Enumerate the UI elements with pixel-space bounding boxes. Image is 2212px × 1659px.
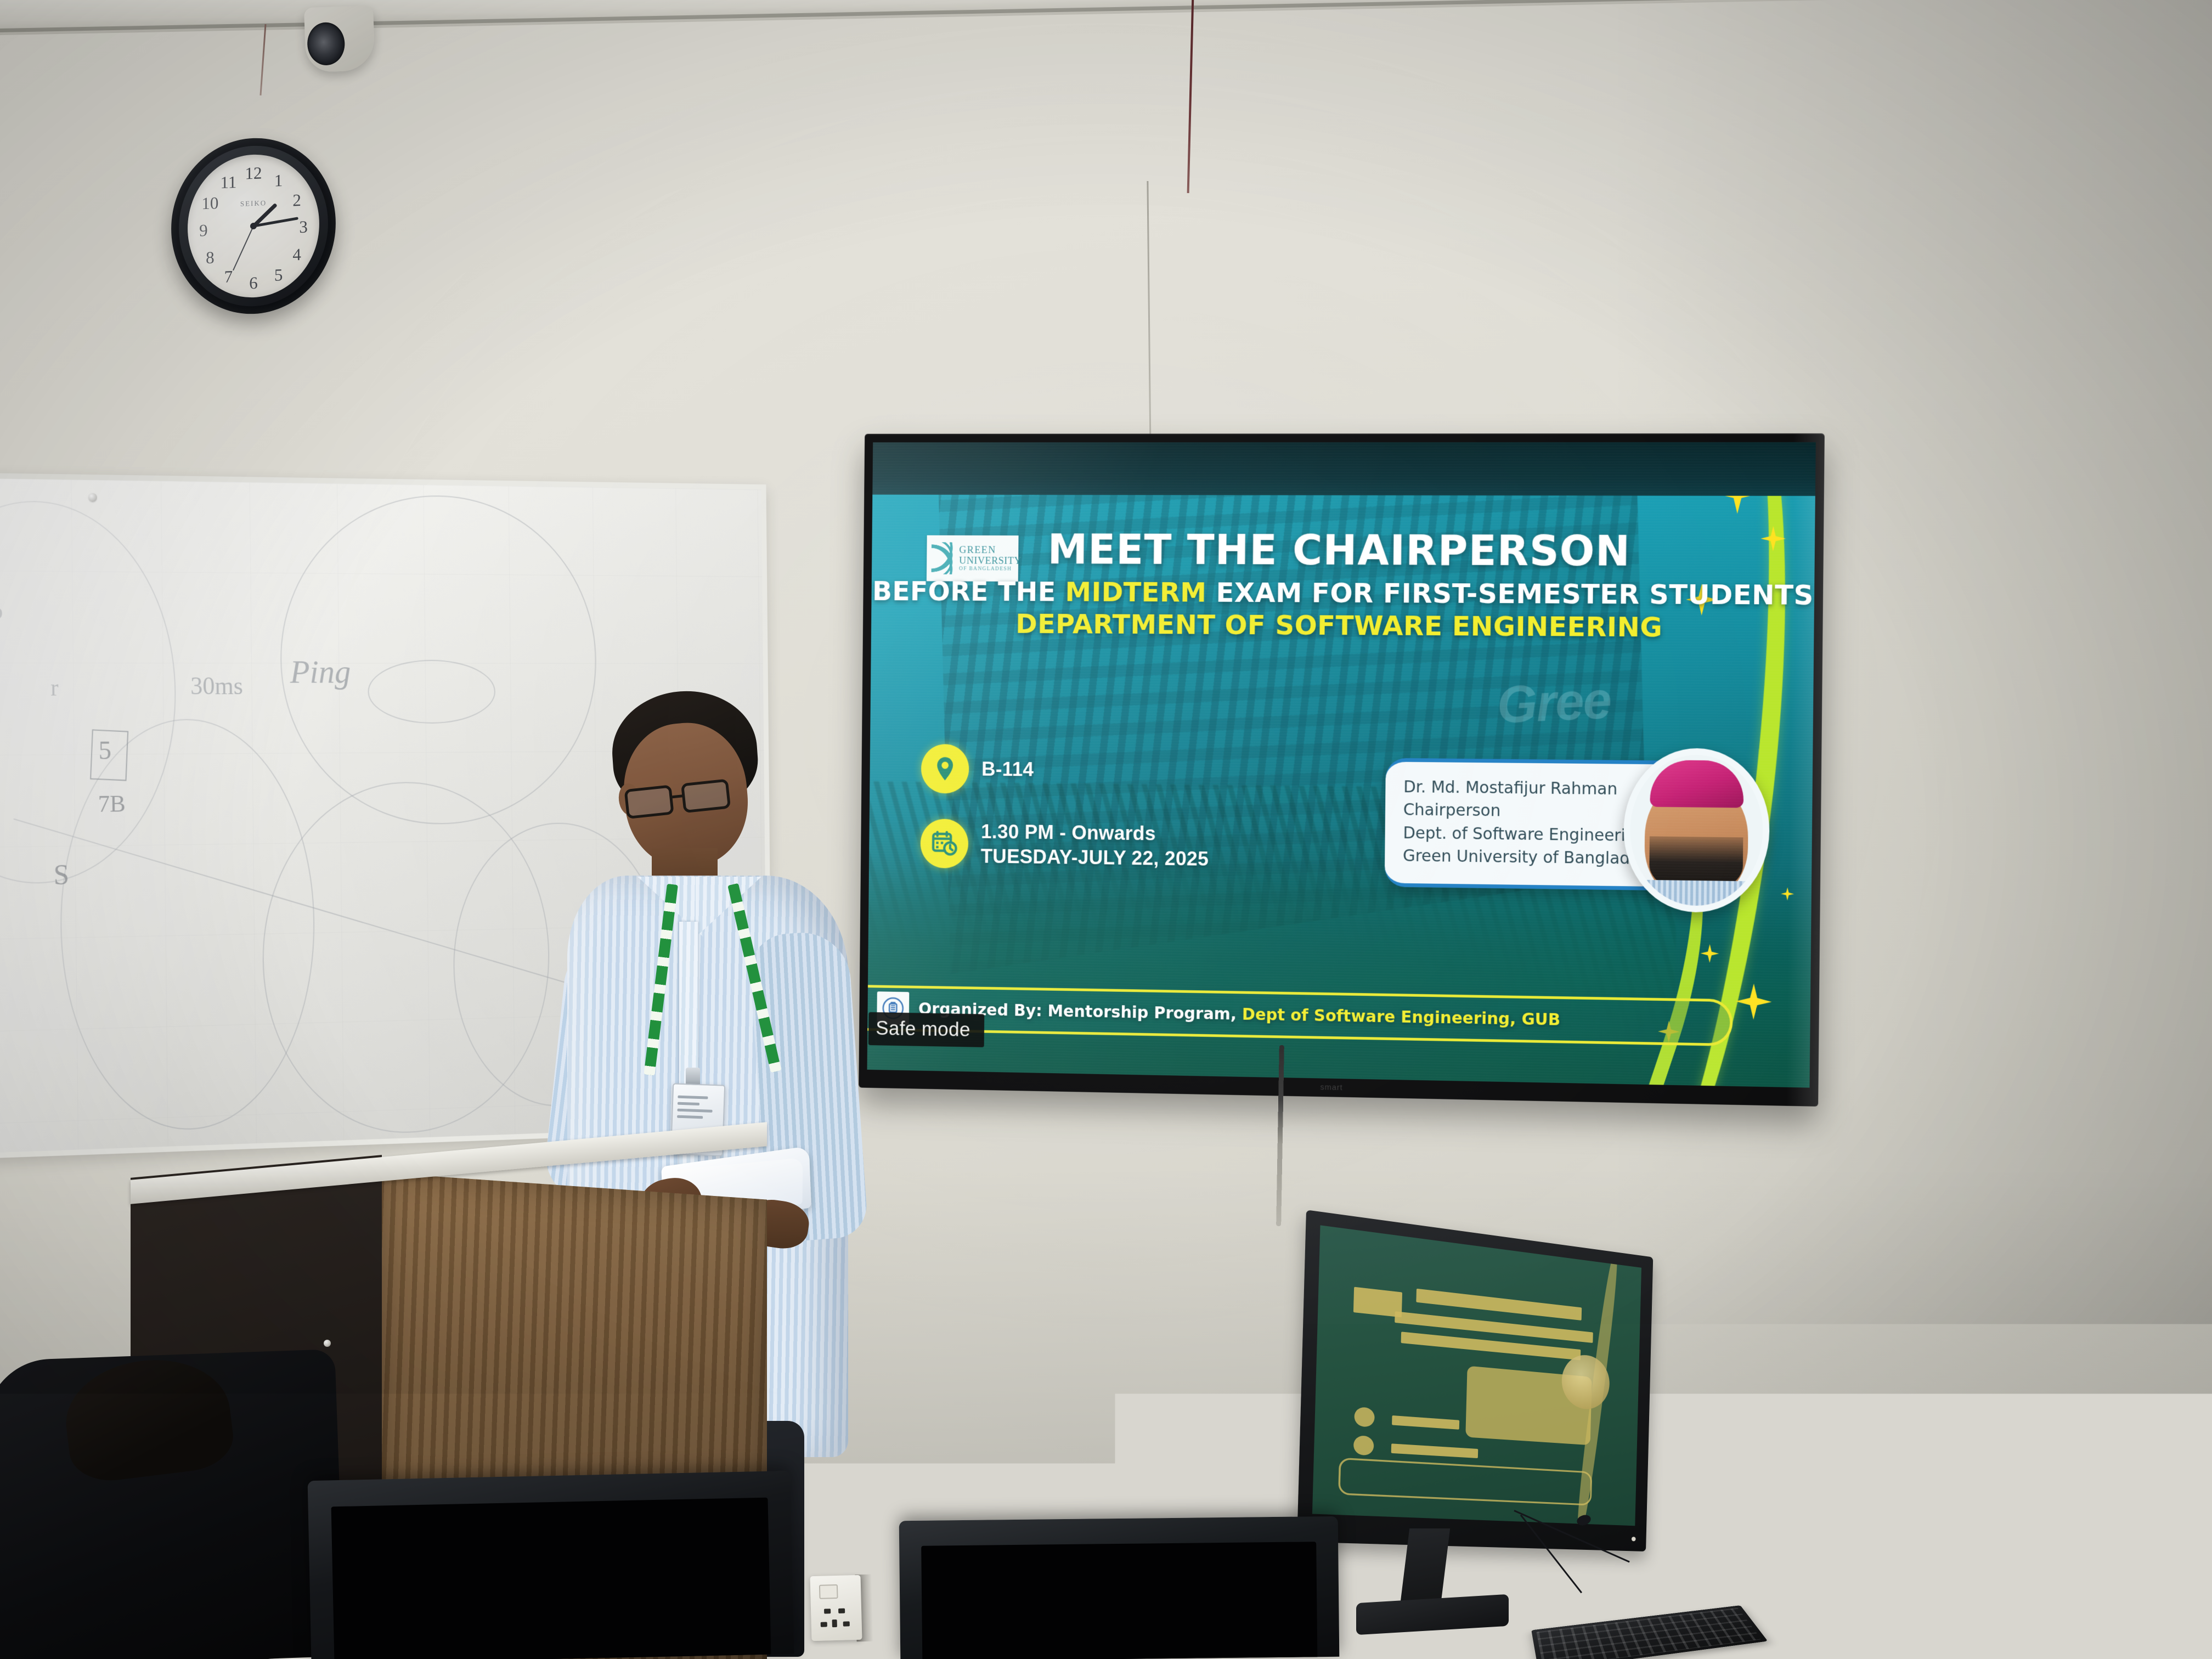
socket-pin <box>821 1622 827 1627</box>
foreground-monitor-left-screen[interactable] <box>331 1498 771 1659</box>
screen-letterbox-band <box>872 442 1815 496</box>
slide-subtitle: BEFORE THE MIDTERM EXAM FOR FIRST-SEMEST… <box>871 576 1814 612</box>
clock-number-5: 5 <box>274 265 283 285</box>
tv-screen[interactable]: Gree GREEN UNIVERSITY OF BANGLADESH <box>867 442 1816 1088</box>
subtitle-highlight: MIDTERM <box>1065 577 1206 608</box>
clock-number-9: 9 <box>199 221 207 241</box>
info-row-datetime: 1.30 PM - Onwards TUESDAY-JULY 22, 2025 <box>921 819 1209 871</box>
socket-pin <box>824 1609 831 1613</box>
clock-number-7: 7 <box>224 267 233 287</box>
desk-leg <box>1865 1607 1967 1659</box>
clock-number-1: 1 <box>274 171 283 191</box>
foreground-monitor-right[interactable] <box>899 1516 1340 1659</box>
date-value: TUESDAY-JULY 22, 2025 <box>980 845 1209 870</box>
clock-number-8: 8 <box>206 247 214 268</box>
clock-number-6: 6 <box>249 273 257 294</box>
location-pin-badge <box>921 744 969 793</box>
monitor-slide-badge <box>1354 1407 1375 1427</box>
badge-text-line <box>678 1096 708 1099</box>
subtitle-before: BEFORE THE <box>872 576 1065 608</box>
foreground-monitor-right-screen[interactable] <box>921 1542 1317 1659</box>
clock-number-10: 10 <box>201 193 218 213</box>
clock-number-12: 12 <box>245 163 262 183</box>
clock-number-2: 2 <box>292 190 301 211</box>
wall-mounted-tv[interactable]: Gree GREEN UNIVERSITY OF BANGLADESH <box>859 433 1825 1107</box>
location-pin-icon <box>932 755 959 783</box>
tv-safe-mode-osd: Safe mode <box>868 1012 984 1047</box>
slide-department: DEPARTMENT OF SOFTWARE ENGINEERING <box>871 608 1814 644</box>
datetime-text: 1.30 PM - Onwards TUESDAY-JULY 22, 2025 <box>980 820 1209 870</box>
clock-number-11: 11 <box>220 172 236 193</box>
wall-power-socket[interactable] <box>810 1575 862 1641</box>
foreground-monitor-left[interactable] <box>308 1471 794 1659</box>
slide-title: MEET THE CHAIRPERSON <box>872 525 1815 576</box>
cctv-lens <box>307 22 346 66</box>
monitor-slide-info-line <box>1391 1443 1478 1458</box>
info-row-location: B-114 <box>921 744 1210 796</box>
speaker-avatar <box>1623 748 1770 913</box>
glasses-right-lens <box>681 778 731 813</box>
clock-number-4: 4 <box>292 245 301 265</box>
tv-brand-label: smart <box>1320 1082 1342 1092</box>
badge-text-line <box>677 1115 703 1119</box>
socket-pin <box>838 1609 845 1613</box>
clock-brand-label: SEIKO <box>240 199 267 208</box>
badge-text-line <box>678 1102 699 1105</box>
monitor-slide-badge <box>1353 1435 1374 1456</box>
podium-screw <box>324 1340 331 1347</box>
slide-info-rows: B-114 <box>920 744 1210 898</box>
organizer-text: Organized By: Mentorship Program, Dept o… <box>918 1000 1560 1030</box>
socket-pin <box>832 1620 837 1627</box>
socket-switch[interactable] <box>819 1584 838 1599</box>
classroom-scene: SEIKO 12 1 2 3 4 5 6 7 8 9 10 11 <box>0 0 2212 1659</box>
time-value: 1.30 PM - Onwards <box>981 820 1209 845</box>
clock-number-3: 3 <box>299 217 307 238</box>
avatar-cap <box>1650 760 1743 808</box>
subtitle-after: EXAM FOR FIRST-SEMESTER STUDENTS <box>1206 577 1814 611</box>
glasses-left-lens <box>624 785 674 819</box>
monitor-slide-organizer-strip <box>1338 1458 1593 1506</box>
calendar-clock-icon <box>930 829 959 858</box>
speaker-name: Dr. Md. Mostafijur Rahman <box>1403 776 1668 802</box>
organizer-highlight: Dept of Software Engineering, GUB <box>1242 1005 1560 1030</box>
badge-text-line <box>678 1109 713 1113</box>
location-text: B-114 <box>981 758 1034 781</box>
socket-pin <box>843 1621 850 1626</box>
calendar-clock-badge <box>921 819 969 868</box>
monitor-screen[interactable] <box>1312 1225 1641 1526</box>
desk-monitor[interactable] <box>1297 1210 1653 1551</box>
clock-second-hand <box>233 226 254 271</box>
slide-title-block: MEET THE CHAIRPERSON BEFORE THE MIDTERM … <box>871 525 1815 644</box>
clock-center-pin <box>250 223 257 229</box>
monitor-slide-info-line <box>1392 1415 1459 1430</box>
presentation-slide: Gree GREEN UNIVERSITY OF BANGLADESH <box>867 442 1816 1088</box>
location-value: B-114 <box>981 758 1034 781</box>
